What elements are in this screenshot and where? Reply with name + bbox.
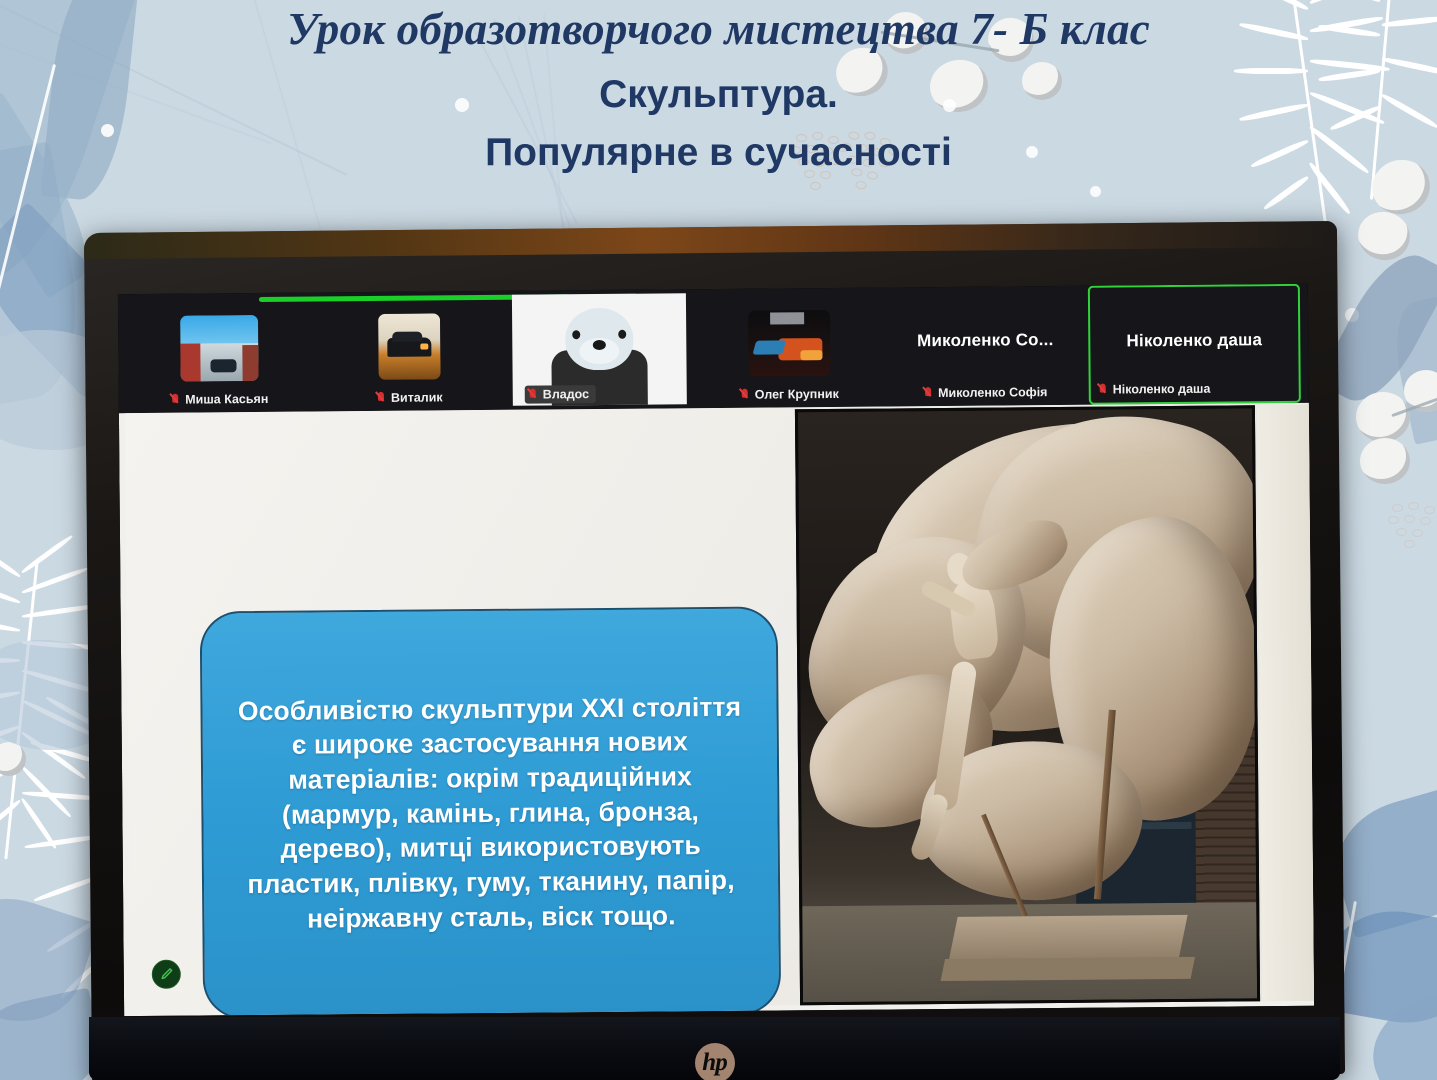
pen-icon[interactable] (152, 960, 181, 989)
decor-berry (1356, 392, 1410, 442)
participant-nametag: Владос (525, 385, 596, 404)
participant-video-thumbnail (180, 315, 259, 382)
participant-name: Владос (543, 387, 589, 401)
participant-display-name: Миколенко Со... (884, 330, 1086, 352)
muted-mic-icon (741, 388, 750, 401)
participant-nametag: Миколенко Софія (924, 385, 1047, 400)
participant-video-thumbnail (378, 313, 441, 380)
participant-tile[interactable]: Олег Крупник (694, 288, 885, 409)
laptop-bottom-bezel: hp (89, 1017, 1340, 1080)
participant-nametag: Виталик (377, 390, 443, 405)
decor-berry (1360, 438, 1410, 484)
muted-mic-icon (377, 391, 386, 404)
slide-text-box: Особливістю скульптури XXI століття є ши… (200, 606, 782, 1016)
participant-tile[interactable]: Владос (504, 289, 695, 410)
lesson-title-line1: Урок образотворчого мистецтва 7- Б клас (0, 6, 1437, 53)
room-background-glow (84, 221, 1337, 259)
participant-nametag: Олег Крупник (741, 387, 839, 402)
participant-tile[interactable]: Миша Касьян (124, 292, 315, 413)
slide-heading-block: Урок образотворчого мистецтва 7- Б клас … (0, 0, 1437, 175)
decor-dot (1090, 186, 1101, 197)
slide-canvas: Особливістю скульптури XXI століття є ши… (125, 403, 1314, 1011)
muted-mic-icon (171, 393, 180, 406)
lesson-title-line3: Популярне в сучасності (0, 131, 1437, 175)
participant-name: Миша Касьян (185, 392, 268, 407)
decor-pine-cone (1386, 500, 1437, 560)
sculpture-base (941, 957, 1195, 981)
laptop-screen: Миша Касьян Виталик (118, 284, 1314, 1016)
participant-name: Виталик (391, 390, 443, 404)
participant-tile-active[interactable]: Ніколенко даша Ніколенко даша (1088, 284, 1301, 405)
participant-name: Миколенко Софія (938, 385, 1047, 400)
participant-tile[interactable]: Виталик (314, 291, 505, 412)
participant-display-name: Ніколенко даша (1090, 330, 1298, 352)
participant-tile[interactable]: Миколенко Со... Миколенко Софія (884, 286, 1087, 407)
muted-mic-icon (1099, 383, 1108, 396)
zoom-participant-strip: Миша Касьян Виталик (118, 284, 1309, 413)
participant-video-thumbnail (748, 310, 831, 377)
muted-mic-icon (924, 387, 933, 400)
hp-logo: hp (695, 1043, 735, 1080)
participant-name: Ніколенко даша (1113, 382, 1211, 397)
laptop-photo: Миша Касьян Виталик (88, 227, 1341, 1080)
muted-mic-icon (529, 388, 538, 401)
participant-name: Олег Крупник (755, 387, 839, 402)
shared-slide-area: Особливістю скульптури XXI століття є ши… (119, 403, 1314, 1016)
slide-right-margin (1257, 405, 1314, 1002)
participant-nametag: Миша Касьян (171, 392, 268, 407)
slide-body-text: Особливістю скульптури XXI століття є ши… (228, 689, 752, 936)
participant-nametag: Ніколенко даша (1099, 382, 1211, 397)
lesson-title-line2: Скульптура. (0, 73, 1437, 117)
sculpture-photo (795, 405, 1260, 1005)
